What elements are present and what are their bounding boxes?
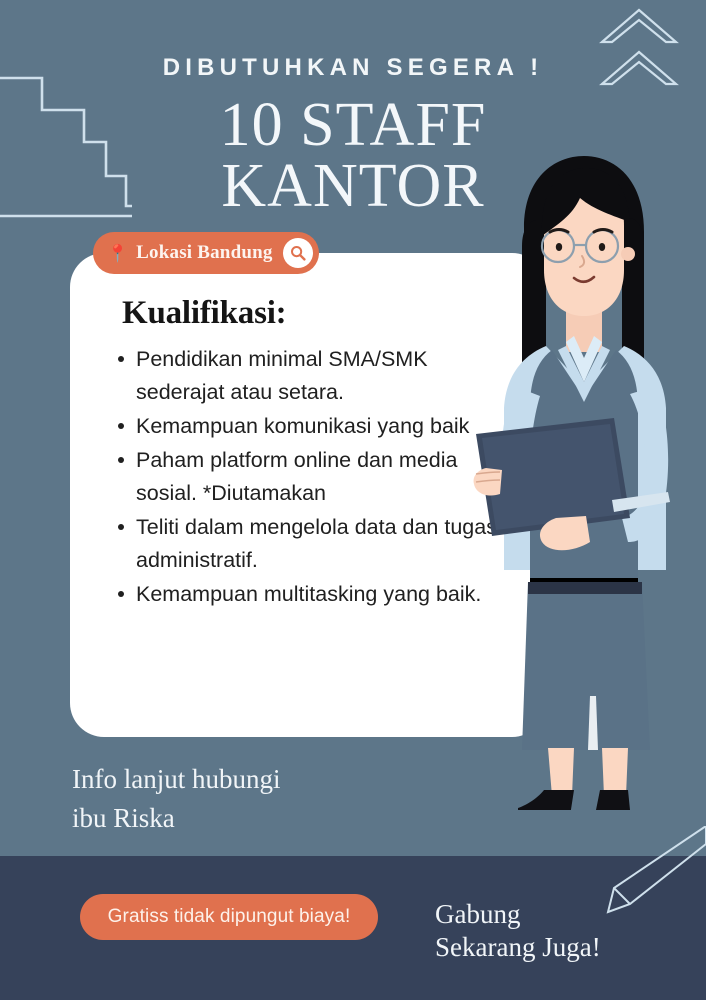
qualifications-title: Kualifikasi: (122, 295, 286, 332)
list-item-text: Kemampuan multitasking yang baik. (136, 582, 481, 606)
list-item-text: Paham platform online dan media sosial. … (136, 448, 458, 505)
list-item: Pendidikan minimal SMA/SMK sederajat ata… (114, 343, 514, 409)
list-item-text: Teliti dalam mengelola data dan tugas ad… (136, 515, 497, 572)
job-poster: DIBUTUHKAN SEGERA ! 10 STAFF KANTOR Kual… (0, 0, 706, 1000)
qualifications-list: Pendidikan minimal SMA/SMK sederajat ata… (114, 343, 514, 612)
list-item-text: Pendidikan minimal SMA/SMK sederajat ata… (136, 347, 428, 404)
location-pin-icon: 📍 (107, 245, 128, 262)
list-item: Paham platform online dan media sosial. … (114, 444, 514, 510)
bullet-icon (118, 524, 124, 530)
contact-info: Info lanjut hubungi ibu Riska (72, 760, 280, 838)
bullet-icon (118, 423, 124, 429)
contact-line-2: ibu Riska (72, 799, 280, 838)
join-line-2: Sekarang Juga! (435, 931, 601, 964)
search-icon[interactable] (283, 238, 313, 268)
bullet-icon (118, 591, 124, 597)
join-line-1: Gabung (435, 898, 601, 931)
free-of-charge-label: Gratiss tidak dipungut biaya! (108, 906, 351, 928)
office-worker-woman-with-laptop-illustration (462, 150, 706, 810)
bullet-icon (118, 457, 124, 463)
headline-line-1: 10 STAFF (0, 95, 706, 156)
bullet-icon (118, 356, 124, 362)
join-now-text: Gabung Sekarang Juga! (435, 898, 601, 964)
list-item: Kemampuan multitasking yang baik. (114, 578, 514, 611)
list-item: Kemampuan komunikasi yang baik (114, 410, 514, 443)
free-of-charge-badge[interactable]: Gratiss tidak dipungut biaya! (80, 894, 378, 940)
location-badge[interactable]: 📍 Lokasi Bandung (93, 232, 319, 274)
list-item-text: Kemampuan komunikasi yang baik (136, 414, 469, 438)
location-badge-label: Lokasi Bandung (136, 242, 272, 264)
kicker-text: DIBUTUHKAN SEGERA ! (0, 54, 706, 82)
list-item: Teliti dalam mengelola data dan tugas ad… (114, 511, 514, 577)
contact-line-1: Info lanjut hubungi (72, 760, 280, 799)
